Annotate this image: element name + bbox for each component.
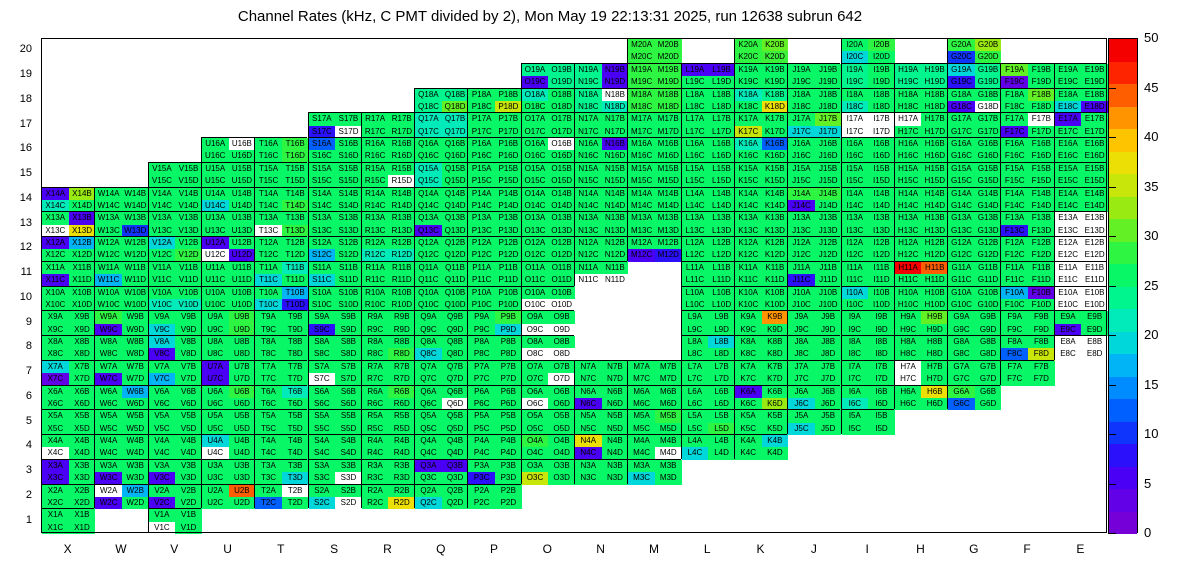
heatmap-subcell[interactable]: M3C — [628, 472, 655, 484]
heatmap-subcell[interactable]: U5A — [202, 410, 229, 422]
heatmap-cell[interactable]: P11AP11BP11CP11D — [467, 261, 520, 286]
heatmap-subcell[interactable]: X14A — [42, 188, 69, 200]
heatmap-cell[interactable]: R13AR13BR13CR13D — [361, 211, 414, 236]
heatmap-cell[interactable]: F7AF7BF7CF7D — [1000, 360, 1053, 385]
heatmap-subcell[interactable]: F7D — [1028, 373, 1055, 385]
heatmap-cell[interactable]: N17AN17BN17CN17D — [574, 112, 627, 137]
heatmap-cell[interactable]: P4AP4BP4CP4D — [467, 434, 520, 459]
heatmap-subcell[interactable]: S9A — [309, 311, 336, 323]
heatmap-subcell[interactable]: R4B — [388, 435, 415, 447]
heatmap-subcell[interactable]: U6B — [229, 386, 256, 398]
heatmap-cell[interactable]: O17AO17BO17CO17D — [521, 112, 574, 137]
heatmap-cell[interactable]: R15AR15BR15CR15D — [361, 162, 414, 187]
heatmap-subcell[interactable]: R10A — [362, 287, 389, 299]
heatmap-subcell[interactable]: M17A — [628, 113, 655, 125]
heatmap-subcell[interactable]: H9B — [921, 311, 948, 323]
heatmap-subcell[interactable]: M18A — [628, 89, 655, 101]
heatmap-cell[interactable]: T10AT10BT10CT10D — [254, 286, 307, 311]
heatmap-cell[interactable]: Q15AQ15BQ15CQ15D — [414, 162, 467, 187]
heatmap-subcell[interactable]: X2A — [42, 485, 69, 497]
heatmap-subcell[interactable]: H7B — [921, 361, 948, 373]
heatmap-cell[interactable]: V10AV10BV10CV10D — [148, 286, 201, 311]
heatmap-subcell[interactable]: K20B — [762, 39, 789, 51]
heatmap-subcell[interactable]: G19A — [948, 64, 975, 76]
heatmap-subcell[interactable]: K4B — [762, 435, 789, 447]
heatmap-subcell[interactable]: R15B — [388, 163, 415, 175]
heatmap-subcell[interactable]: T5A — [255, 410, 282, 422]
heatmap-cell[interactable]: R10AR10BR10CR10D — [361, 286, 414, 311]
heatmap-subcell[interactable]: J8A — [788, 336, 815, 348]
heatmap-cell[interactable]: U7AU7BU7CU7D — [201, 360, 254, 385]
heatmap-cell[interactable]: I11AI11BI11CI11D — [841, 261, 894, 286]
heatmap-subcell[interactable]: N4B — [602, 435, 629, 447]
heatmap-cell[interactable]: R7AR7BR7CR7D — [361, 360, 414, 385]
heatmap-subcell[interactable]: I5A — [842, 410, 869, 422]
heatmap-subcell[interactable]: P16A — [468, 138, 495, 150]
heatmap-cell[interactable]: L18AL18BL18CL18D — [681, 88, 734, 113]
heatmap-cell[interactable]: U15AU15BU15CU15D — [201, 162, 254, 187]
heatmap-subcell[interactable]: T4A — [255, 435, 282, 447]
heatmap-subcell[interactable]: I13B — [868, 212, 895, 224]
heatmap-subcell[interactable]: P7B — [495, 361, 522, 373]
heatmap-cell[interactable]: J13AJ13BJ13CJ13D — [787, 211, 840, 236]
heatmap-subcell[interactable]: U14A — [202, 188, 229, 200]
heatmap-subcell[interactable]: G15B — [975, 163, 1002, 175]
heatmap-cell[interactable]: I16AI16BI16CI16D — [841, 137, 894, 162]
heatmap-cell[interactable]: S12AS12BS12CS12D — [308, 236, 361, 261]
heatmap-cell[interactable]: M18AM18BM18CM18D — [627, 88, 680, 113]
heatmap-subcell[interactable]: V12B — [175, 237, 202, 249]
heatmap-subcell[interactable]: G11B — [975, 262, 1002, 274]
heatmap-subcell[interactable]: O3D — [548, 472, 575, 484]
heatmap-subcell[interactable]: P2B — [495, 485, 522, 497]
heatmap-subcell[interactable]: R3A — [362, 460, 389, 472]
heatmap-subcell[interactable]: P9B — [495, 311, 522, 323]
heatmap-cell[interactable]: N5AN5BN5CN5D — [574, 409, 627, 434]
heatmap-subcell[interactable]: T9A — [255, 311, 282, 323]
heatmap-cell[interactable]: K17AK17BK17CK17D — [734, 112, 787, 137]
heatmap-subcell[interactable]: P12A — [468, 237, 495, 249]
heatmap-subcell[interactable]: G18B — [975, 89, 1002, 101]
heatmap-subcell[interactable]: S6B — [335, 386, 362, 398]
heatmap-cell[interactable]: J11AJ11BJ11CJ11D — [787, 261, 840, 286]
heatmap-subcell[interactable]: S7B — [335, 361, 362, 373]
heatmap-cell[interactable]: N4AN4BN4CN4D — [574, 434, 627, 459]
heatmap-subcell[interactable]: T15A — [255, 163, 282, 175]
heatmap-subcell[interactable]: L14B — [708, 188, 735, 200]
heatmap-subcell[interactable]: U9A — [202, 311, 229, 323]
heatmap-subcell[interactable]: U3A — [202, 460, 229, 472]
heatmap-subcell[interactable]: E11B — [1081, 262, 1108, 274]
heatmap-subcell[interactable]: O4A — [522, 435, 549, 447]
heatmap-subcell[interactable]: J16B — [815, 138, 842, 150]
heatmap-subcell[interactable]: W3B — [122, 460, 149, 472]
heatmap-subcell[interactable]: P13B — [495, 212, 522, 224]
heatmap-cell[interactable]: T14AT14BT14CT14D — [254, 187, 307, 212]
heatmap-subcell[interactable]: Q11B — [442, 262, 469, 274]
heatmap-subcell[interactable]: F10B — [1028, 287, 1055, 299]
heatmap-subcell[interactable]: T4B — [282, 435, 309, 447]
heatmap-subcell[interactable]: J5A — [788, 410, 815, 422]
heatmap-cell[interactable]: U16AU16BU16CU16D — [201, 137, 254, 162]
heatmap-subcell[interactable]: K4A — [735, 435, 762, 447]
heatmap-subcell[interactable]: R16B — [388, 138, 415, 150]
heatmap-subcell[interactable]: O11B — [548, 262, 575, 274]
heatmap-subcell[interactable]: K16B — [762, 138, 789, 150]
heatmap-subcell[interactable]: E14A — [1055, 188, 1082, 200]
heatmap-subcell[interactable]: R6B — [388, 386, 415, 398]
heatmap-subcell[interactable]: O11A — [522, 262, 549, 274]
heatmap-subcell[interactable]: G12B — [975, 237, 1002, 249]
heatmap-subcell[interactable]: M3D — [655, 472, 682, 484]
heatmap-cell[interactable]: S7AS7BS7CS7D — [308, 360, 361, 385]
heatmap-cell[interactable]: T4AT4BT4CT4D — [254, 434, 307, 459]
heatmap-subcell[interactable]: T10B — [282, 287, 309, 299]
heatmap-subcell[interactable]: L9A — [682, 311, 709, 323]
heatmap-subcell[interactable]: O17A — [522, 113, 549, 125]
heatmap-cell[interactable]: Q3AQ3BQ3CQ3D — [414, 459, 467, 484]
heatmap-subcell[interactable]: S13B — [335, 212, 362, 224]
heatmap-subcell[interactable]: K5B — [762, 410, 789, 422]
heatmap-cell[interactable]: I15AI15BI15CI15D — [841, 162, 894, 187]
heatmap-subcell[interactable]: T2D — [282, 497, 309, 509]
heatmap-subcell[interactable]: K11A — [735, 262, 762, 274]
heatmap-subcell[interactable]: L6A — [682, 386, 709, 398]
heatmap-subcell[interactable]: T13A — [255, 212, 282, 224]
heatmap-subcell[interactable]: X2B — [69, 485, 96, 497]
heatmap-subcell[interactable]: I8B — [868, 336, 895, 348]
heatmap-subcell[interactable]: V13B — [175, 212, 202, 224]
heatmap-cell[interactable]: F12AF12BF12CF12D — [1000, 236, 1053, 261]
heatmap-subcell[interactable]: W6B — [122, 386, 149, 398]
heatmap-subcell[interactable]: E12A — [1055, 237, 1082, 249]
heatmap-subcell[interactable]: Q8B — [442, 336, 469, 348]
heatmap-subcell[interactable]: H16A — [895, 138, 922, 150]
heatmap-subcell[interactable]: E8A — [1055, 336, 1082, 348]
heatmap-cell[interactable]: W6AW6BW6CW6D — [94, 385, 147, 410]
heatmap-cell[interactable]: T9AT9BT9CT9D — [254, 310, 307, 335]
heatmap-subcell[interactable]: J18B — [815, 89, 842, 101]
heatmap-subcell[interactable]: U7B — [229, 361, 256, 373]
heatmap-subcell[interactable]: I14A — [842, 188, 869, 200]
heatmap-cell[interactable]: J19AJ19BJ19CJ19D — [787, 63, 840, 88]
heatmap-subcell[interactable]: X5A — [42, 410, 69, 422]
heatmap-subcell[interactable]: F17B — [1028, 113, 1055, 125]
heatmap-cell[interactable]: H19AH19BH19CH19D — [894, 63, 947, 88]
heatmap-cell[interactable]: F18AF18BF18CF18D — [1000, 88, 1053, 113]
heatmap-subcell[interactable]: E11A — [1055, 262, 1082, 274]
heatmap-subcell[interactable]: E13A — [1055, 212, 1082, 224]
heatmap-cell[interactable]: O10AO10BO10CO10D — [521, 286, 574, 311]
heatmap-subcell[interactable]: I13A — [842, 212, 869, 224]
heatmap-subcell[interactable]: U16A — [202, 138, 229, 150]
heatmap-subcell[interactable]: G18A — [948, 89, 975, 101]
heatmap-subcell[interactable]: F16A — [1001, 138, 1028, 150]
heatmap-subcell[interactable]: P3B — [495, 460, 522, 472]
heatmap-subcell[interactable]: J6B — [815, 386, 842, 398]
heatmap-subcell[interactable]: L18B — [708, 89, 735, 101]
heatmap-cell[interactable]: U5AU5BU5CU5D — [201, 409, 254, 434]
heatmap-cell[interactable]: X7AX7BX7CX7D — [41, 360, 94, 385]
heatmap-subcell[interactable]: F16B — [1028, 138, 1055, 150]
heatmap-subcell[interactable]: I7A — [842, 361, 869, 373]
heatmap-subcell[interactable]: I10A — [842, 287, 869, 299]
heatmap-cell[interactable]: W8AW8BW8CW8D — [94, 335, 147, 360]
heatmap-subcell[interactable]: E8D — [1081, 348, 1108, 360]
heatmap-subcell[interactable]: M5B — [655, 410, 682, 422]
heatmap-subcell[interactable]: L14A — [682, 188, 709, 200]
heatmap-subcell[interactable]: V1B — [175, 509, 202, 521]
heatmap-cell[interactable]: I7AI7BI7CI7D — [841, 360, 894, 385]
heatmap-subcell[interactable]: R3B — [388, 460, 415, 472]
heatmap-subcell[interactable]: G6C — [948, 398, 975, 410]
heatmap-subcell[interactable]: O15A — [522, 163, 549, 175]
heatmap-subcell[interactable]: X1B — [69, 509, 96, 521]
heatmap-subcell[interactable]: M7B — [655, 361, 682, 373]
heatmap-subcell[interactable]: P11B — [495, 262, 522, 274]
heatmap-cell[interactable]: Q11AQ11BQ11CQ11D — [414, 261, 467, 286]
heatmap-subcell[interactable]: R6A — [362, 386, 389, 398]
heatmap-cell[interactable]: E10AE10BE10CE10D — [1054, 286, 1107, 311]
heatmap-subcell[interactable]: Q17B — [442, 113, 469, 125]
heatmap-subcell[interactable]: L8B — [708, 336, 735, 348]
heatmap-subcell[interactable]: F7B — [1028, 361, 1055, 373]
heatmap-subcell[interactable]: H15A — [895, 163, 922, 175]
heatmap-subcell[interactable]: S15B — [335, 163, 362, 175]
heatmap-cell[interactable]: K6AK6BK6CK6D — [734, 385, 787, 410]
heatmap-subcell[interactable]: V2A — [149, 485, 176, 497]
heatmap-cell[interactable]: P2AP2BP2CP2D — [467, 484, 520, 509]
heatmap-cell[interactable]: U6AU6BU6CU6D — [201, 385, 254, 410]
heatmap-subcell[interactable]: X7B — [69, 361, 96, 373]
heatmap-subcell[interactable]: W11A — [95, 262, 122, 274]
heatmap-subcell[interactable]: W9A — [95, 311, 122, 323]
heatmap-subcell[interactable]: S16B — [335, 138, 362, 150]
heatmap-subcell[interactable]: M3B — [655, 460, 682, 472]
heatmap-cell[interactable]: O18AO18BO18CO18D — [521, 88, 574, 113]
heatmap-cell[interactable]: Q6AQ6BQ6CQ6D — [414, 385, 467, 410]
heatmap-subcell[interactable]: H13B — [921, 212, 948, 224]
heatmap-cell[interactable]: L15AL15BL15CL15D — [681, 162, 734, 187]
heatmap-cell[interactable]: M20AM20BM20CM20D — [627, 38, 680, 63]
heatmap-subcell[interactable]: X12B — [69, 237, 96, 249]
heatmap-subcell[interactable]: V15B — [175, 163, 202, 175]
heatmap-cell[interactable]: P5AP5BP5CP5D — [467, 409, 520, 434]
heatmap-cell[interactable]: R3AR3BR3CR3D — [361, 459, 414, 484]
heatmap-subcell[interactable]: R8B — [388, 336, 415, 348]
heatmap-cell[interactable]: V2AV2BV2CV2D — [148, 484, 201, 509]
heatmap-cell[interactable]: E16AE16BE16CE16D — [1054, 137, 1107, 162]
heatmap-subcell[interactable]: J15A — [788, 163, 815, 175]
heatmap-cell[interactable]: N19AN19BN19CN19D — [574, 63, 627, 88]
heatmap-subcell[interactable]: F13A — [1001, 212, 1028, 224]
heatmap-subcell[interactable]: V10A — [149, 287, 176, 299]
heatmap-subcell[interactable]: K19B — [762, 64, 789, 76]
heatmap-subcell[interactable]: O9A — [522, 311, 549, 323]
heatmap-cell[interactable]: X9AX9BX9CX9D — [41, 310, 94, 335]
heatmap-subcell[interactable]: N11A — [575, 262, 602, 274]
heatmap-cell[interactable]: V7AV7BV7CV7D — [148, 360, 201, 385]
heatmap-cell[interactable]: S8AS8BS8CS8D — [308, 335, 361, 360]
heatmap-subcell[interactable]: L12A — [682, 237, 709, 249]
heatmap-subcell[interactable]: S10A — [309, 287, 336, 299]
heatmap-subcell[interactable]: J19B — [815, 64, 842, 76]
heatmap-subcell[interactable]: K4C — [735, 447, 762, 459]
heatmap-subcell[interactable]: E9B — [1081, 311, 1108, 323]
heatmap-subcell[interactable]: G14B — [975, 188, 1002, 200]
heatmap-cell[interactable]: R5AR5BR5CR5D — [361, 409, 414, 434]
heatmap-subcell[interactable]: W11B — [122, 262, 149, 274]
heatmap-subcell[interactable]: S9B — [335, 311, 362, 323]
heatmap-cell[interactable]: E11AE11BE11CE11D — [1054, 261, 1107, 286]
heatmap-subcell[interactable]: W5A — [95, 410, 122, 422]
heatmap-subcell[interactable]: E8B — [1081, 336, 1108, 348]
heatmap-subcell[interactable]: O7A — [522, 361, 549, 373]
heatmap-subcell[interactable]: L6B — [708, 386, 735, 398]
heatmap-subcell[interactable]: W12B — [122, 237, 149, 249]
heatmap-cell[interactable]: U11AU11BU11CU11D — [201, 261, 254, 286]
heatmap-cell[interactable]: H7AH7BH7CH7D — [894, 360, 947, 385]
heatmap-subcell[interactable]: I20A — [842, 39, 869, 51]
heatmap-subcell[interactable]: V13A — [149, 212, 176, 224]
heatmap-subcell[interactable]: O18A — [522, 89, 549, 101]
heatmap-cell[interactable]: K7AK7BK7CK7D — [734, 360, 787, 385]
heatmap-subcell[interactable]: R11A — [362, 262, 389, 274]
heatmap-cell[interactable]: M13AM13BM13CM13D — [627, 211, 680, 236]
heatmap-subcell[interactable]: O12A — [522, 237, 549, 249]
heatmap-subcell[interactable]: Q5A — [415, 410, 442, 422]
heatmap-cell[interactable]: G16AG16BG16CG16D — [947, 137, 1000, 162]
heatmap-cell[interactable]: V1AV1BV1CV1D — [148, 508, 201, 533]
heatmap-subcell[interactable]: G6A — [948, 386, 975, 398]
heatmap-cell[interactable]: R4AR4BR4CR4D — [361, 434, 414, 459]
heatmap-subcell[interactable]: F10A — [1001, 287, 1028, 299]
heatmap-subcell[interactable]: X11A — [42, 262, 69, 274]
heatmap-subcell[interactable]: O10B — [548, 287, 575, 299]
heatmap-cell[interactable]: Q10AQ10BQ10CQ10D — [414, 286, 467, 311]
heatmap-subcell[interactable]: U8B — [229, 336, 256, 348]
heatmap-cell[interactable]: R11AR11BR11CR11D — [361, 261, 414, 286]
heatmap-subcell[interactable]: U11A — [202, 262, 229, 274]
heatmap-cell[interactable]: K5AK5BK5CK5D — [734, 409, 787, 434]
heatmap-cell[interactable]: S9AS9BS9CS9D — [308, 310, 361, 335]
heatmap-cell[interactable]: N13AN13BN13CN13D — [574, 211, 627, 236]
heatmap-subcell[interactable]: R8A — [362, 336, 389, 348]
heatmap-subcell[interactable]: O10A — [522, 287, 549, 299]
heatmap-subcell[interactable]: S3A — [309, 460, 336, 472]
heatmap-subcell[interactable]: Q16A — [415, 138, 442, 150]
heatmap-subcell[interactable]: N3D — [602, 472, 629, 484]
heatmap-subcell[interactable]: R7B — [388, 361, 415, 373]
heatmap-subcell[interactable]: G19B — [975, 64, 1002, 76]
heatmap-subcell[interactable]: Q10B — [442, 287, 469, 299]
heatmap-cell[interactable]: M4AM4BM4CM4D — [627, 434, 680, 459]
heatmap-subcell[interactable]: J9A — [788, 311, 815, 323]
heatmap-subcell[interactable]: J11B — [815, 262, 842, 274]
heatmap-subcell[interactable]: R9B — [388, 311, 415, 323]
heatmap-subcell[interactable]: K8B — [762, 336, 789, 348]
heatmap-subcell[interactable]: F18B — [1028, 89, 1055, 101]
heatmap-cell[interactable]: E12AE12BE12CE12D — [1054, 236, 1107, 261]
heatmap-subcell[interactable]: F15B — [1028, 163, 1055, 175]
heatmap-subcell[interactable]: H8B — [921, 336, 948, 348]
heatmap-subcell[interactable]: I14B — [868, 188, 895, 200]
heatmap-cell[interactable]: F15AF15BF15CF15D — [1000, 162, 1053, 187]
heatmap-subcell[interactable]: U10A — [202, 287, 229, 299]
heatmap-cell[interactable]: V5AV5BV5CV5D — [148, 409, 201, 434]
heatmap-cell[interactable]: V14AV14BV14CV14D — [148, 187, 201, 212]
heatmap-subcell[interactable]: H19B — [921, 64, 948, 76]
heatmap-subcell[interactable]: P14A — [468, 188, 495, 200]
heatmap-subcell[interactable]: U13B — [229, 212, 256, 224]
heatmap-subcell[interactable]: O14A — [522, 188, 549, 200]
heatmap-subcell[interactable]: O9B — [548, 311, 575, 323]
heatmap-cell[interactable]: L4AL4BL4CL4D — [681, 434, 734, 459]
heatmap-cell[interactable]: R6AR6BR6CR6D — [361, 385, 414, 410]
heatmap-subcell[interactable]: N7A — [575, 361, 602, 373]
heatmap-subcell[interactable]: F19A — [1001, 64, 1028, 76]
heatmap-subcell[interactable]: O7B — [548, 361, 575, 373]
heatmap-subcell[interactable]: W9B — [122, 311, 149, 323]
heatmap-subcell[interactable]: N17A — [575, 113, 602, 125]
heatmap-cell[interactable]: T13AT13BT13CT13D — [254, 211, 307, 236]
heatmap-cell[interactable]: W13AW13BW13CW13D — [94, 211, 147, 236]
heatmap-subcell[interactable]: I6B — [868, 386, 895, 398]
heatmap-cell[interactable]: K18AK18BK18CK18D — [734, 88, 787, 113]
heatmap-cell[interactable]: L10AL10BL10CL10D — [681, 286, 734, 311]
heatmap-cell[interactable]: W3AW3BW3CW3D — [94, 459, 147, 484]
heatmap-cell[interactable]: G9AG9BG9CG9D — [947, 310, 1000, 335]
heatmap-subcell[interactable]: Q5B — [442, 410, 469, 422]
heatmap-subcell[interactable]: K4D — [762, 447, 789, 459]
heatmap-subcell[interactable]: K16A — [735, 138, 762, 150]
heatmap-subcell[interactable]: V15A — [149, 163, 176, 175]
heatmap-cell[interactable]: P16AP16BP16CP16D — [467, 137, 520, 162]
heatmap-subcell[interactable]: R15A — [362, 163, 389, 175]
heatmap-subcell[interactable]: U2D — [229, 497, 256, 509]
heatmap-subcell[interactable]: I9A — [842, 311, 869, 323]
heatmap-cell[interactable]: S17AS17BS17CS17D — [308, 112, 361, 137]
heatmap-subcell[interactable]: P7A — [468, 361, 495, 373]
heatmap-cell[interactable]: H11AH11BH11CH11D — [894, 261, 947, 286]
heatmap-subcell[interactable]: N3B — [602, 460, 629, 472]
heatmap-cell[interactable]: H16AH16BH16CH16D — [894, 137, 947, 162]
heatmap-subcell[interactable]: F18A — [1001, 89, 1028, 101]
heatmap-cell[interactable]: L13AL13BL13CL13D — [681, 211, 734, 236]
heatmap-subcell[interactable]: M12C — [628, 249, 655, 261]
heatmap-subcell[interactable]: G10A — [948, 287, 975, 299]
heatmap-subcell[interactable]: Q14A — [415, 188, 442, 200]
heatmap-cell[interactable]: J18AJ18BJ18CJ18D — [787, 88, 840, 113]
heatmap-cell[interactable]: L17AL17BL17CL17D — [681, 112, 734, 137]
heatmap-subcell[interactable]: F14B — [1028, 188, 1055, 200]
heatmap-cell[interactable]: Q14AQ14BQ14CQ14D — [414, 187, 467, 212]
heatmap-cell[interactable]: M17AM17BM17CM17D — [627, 112, 680, 137]
heatmap-subcell[interactable]: I12B — [868, 237, 895, 249]
heatmap-cell[interactable]: K15AK15BK15CK15D — [734, 162, 787, 187]
heatmap-subcell[interactable]: T11A — [255, 262, 282, 274]
heatmap-subcell[interactable]: W8B — [122, 336, 149, 348]
heatmap-subcell[interactable]: G15A — [948, 163, 975, 175]
heatmap-cell[interactable]: H6AH6BH6CH6D — [894, 385, 947, 410]
heatmap-subcell[interactable]: V12A — [149, 237, 176, 249]
heatmap-subcell[interactable]: L4A — [682, 435, 709, 447]
heatmap-subcell[interactable]: N7B — [602, 361, 629, 373]
heatmap-subcell[interactable]: N11D — [602, 274, 629, 286]
heatmap-subcell[interactable]: X14B — [69, 188, 96, 200]
heatmap-subcell[interactable]: G17A — [948, 113, 975, 125]
heatmap-subcell[interactable]: I6A — [842, 386, 869, 398]
